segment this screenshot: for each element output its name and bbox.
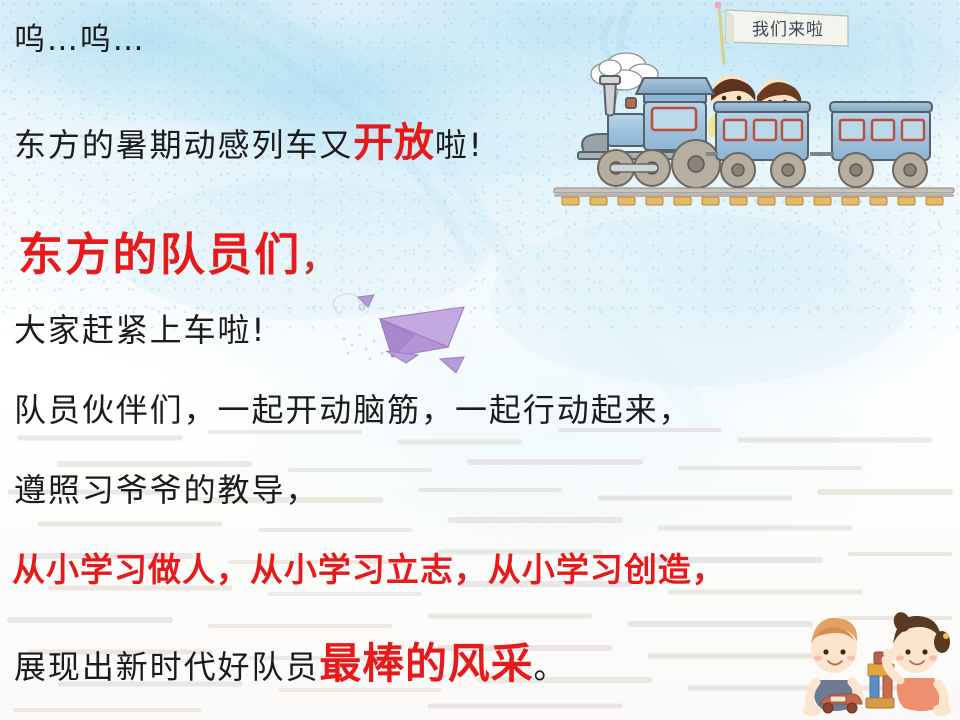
line-board-the-train: 大家赶紧上车啦! xyxy=(14,305,266,351)
line-heading-punct: ， xyxy=(302,239,338,279)
line-train-prefix: 东方的暑期动感列车又 xyxy=(14,126,353,164)
text-content: 呜…呜… 东方的暑期动感列车又开放啦! 东方的队员们， 大家赶紧上车啦! 队员伙… xyxy=(0,0,960,720)
line-whistle: 呜…呜… xyxy=(14,14,145,59)
line-train-suffix: 啦! xyxy=(435,126,484,164)
slide-canvas: 我们来啦 xyxy=(0,0,960,720)
line-heading-text: 东方的队员们 xyxy=(18,228,302,281)
line-show-highlight: 最棒的风采 xyxy=(319,639,533,688)
line-learn-slogan: 从小学习做人，从小学习立志，从小学习创造， xyxy=(12,543,726,591)
line-show-prefix: 展现出新时代好队员 xyxy=(14,648,319,686)
line-train-announcement: 东方的暑期动感列车又开放啦! xyxy=(14,110,483,168)
line-train-highlight: 开放 xyxy=(353,120,435,166)
line-follow-teaching: 遵照习爷爷的教导， xyxy=(14,465,319,511)
line-show-style: 展现出新时代好队员最棒的风采。 xyxy=(14,630,567,691)
line-heading: 东方的队员们， xyxy=(18,218,338,283)
line-show-suffix: 。 xyxy=(533,648,567,686)
line-think-and-act: 队员伙伴们，一起开动脑筋，一起行动起来， xyxy=(14,385,692,431)
